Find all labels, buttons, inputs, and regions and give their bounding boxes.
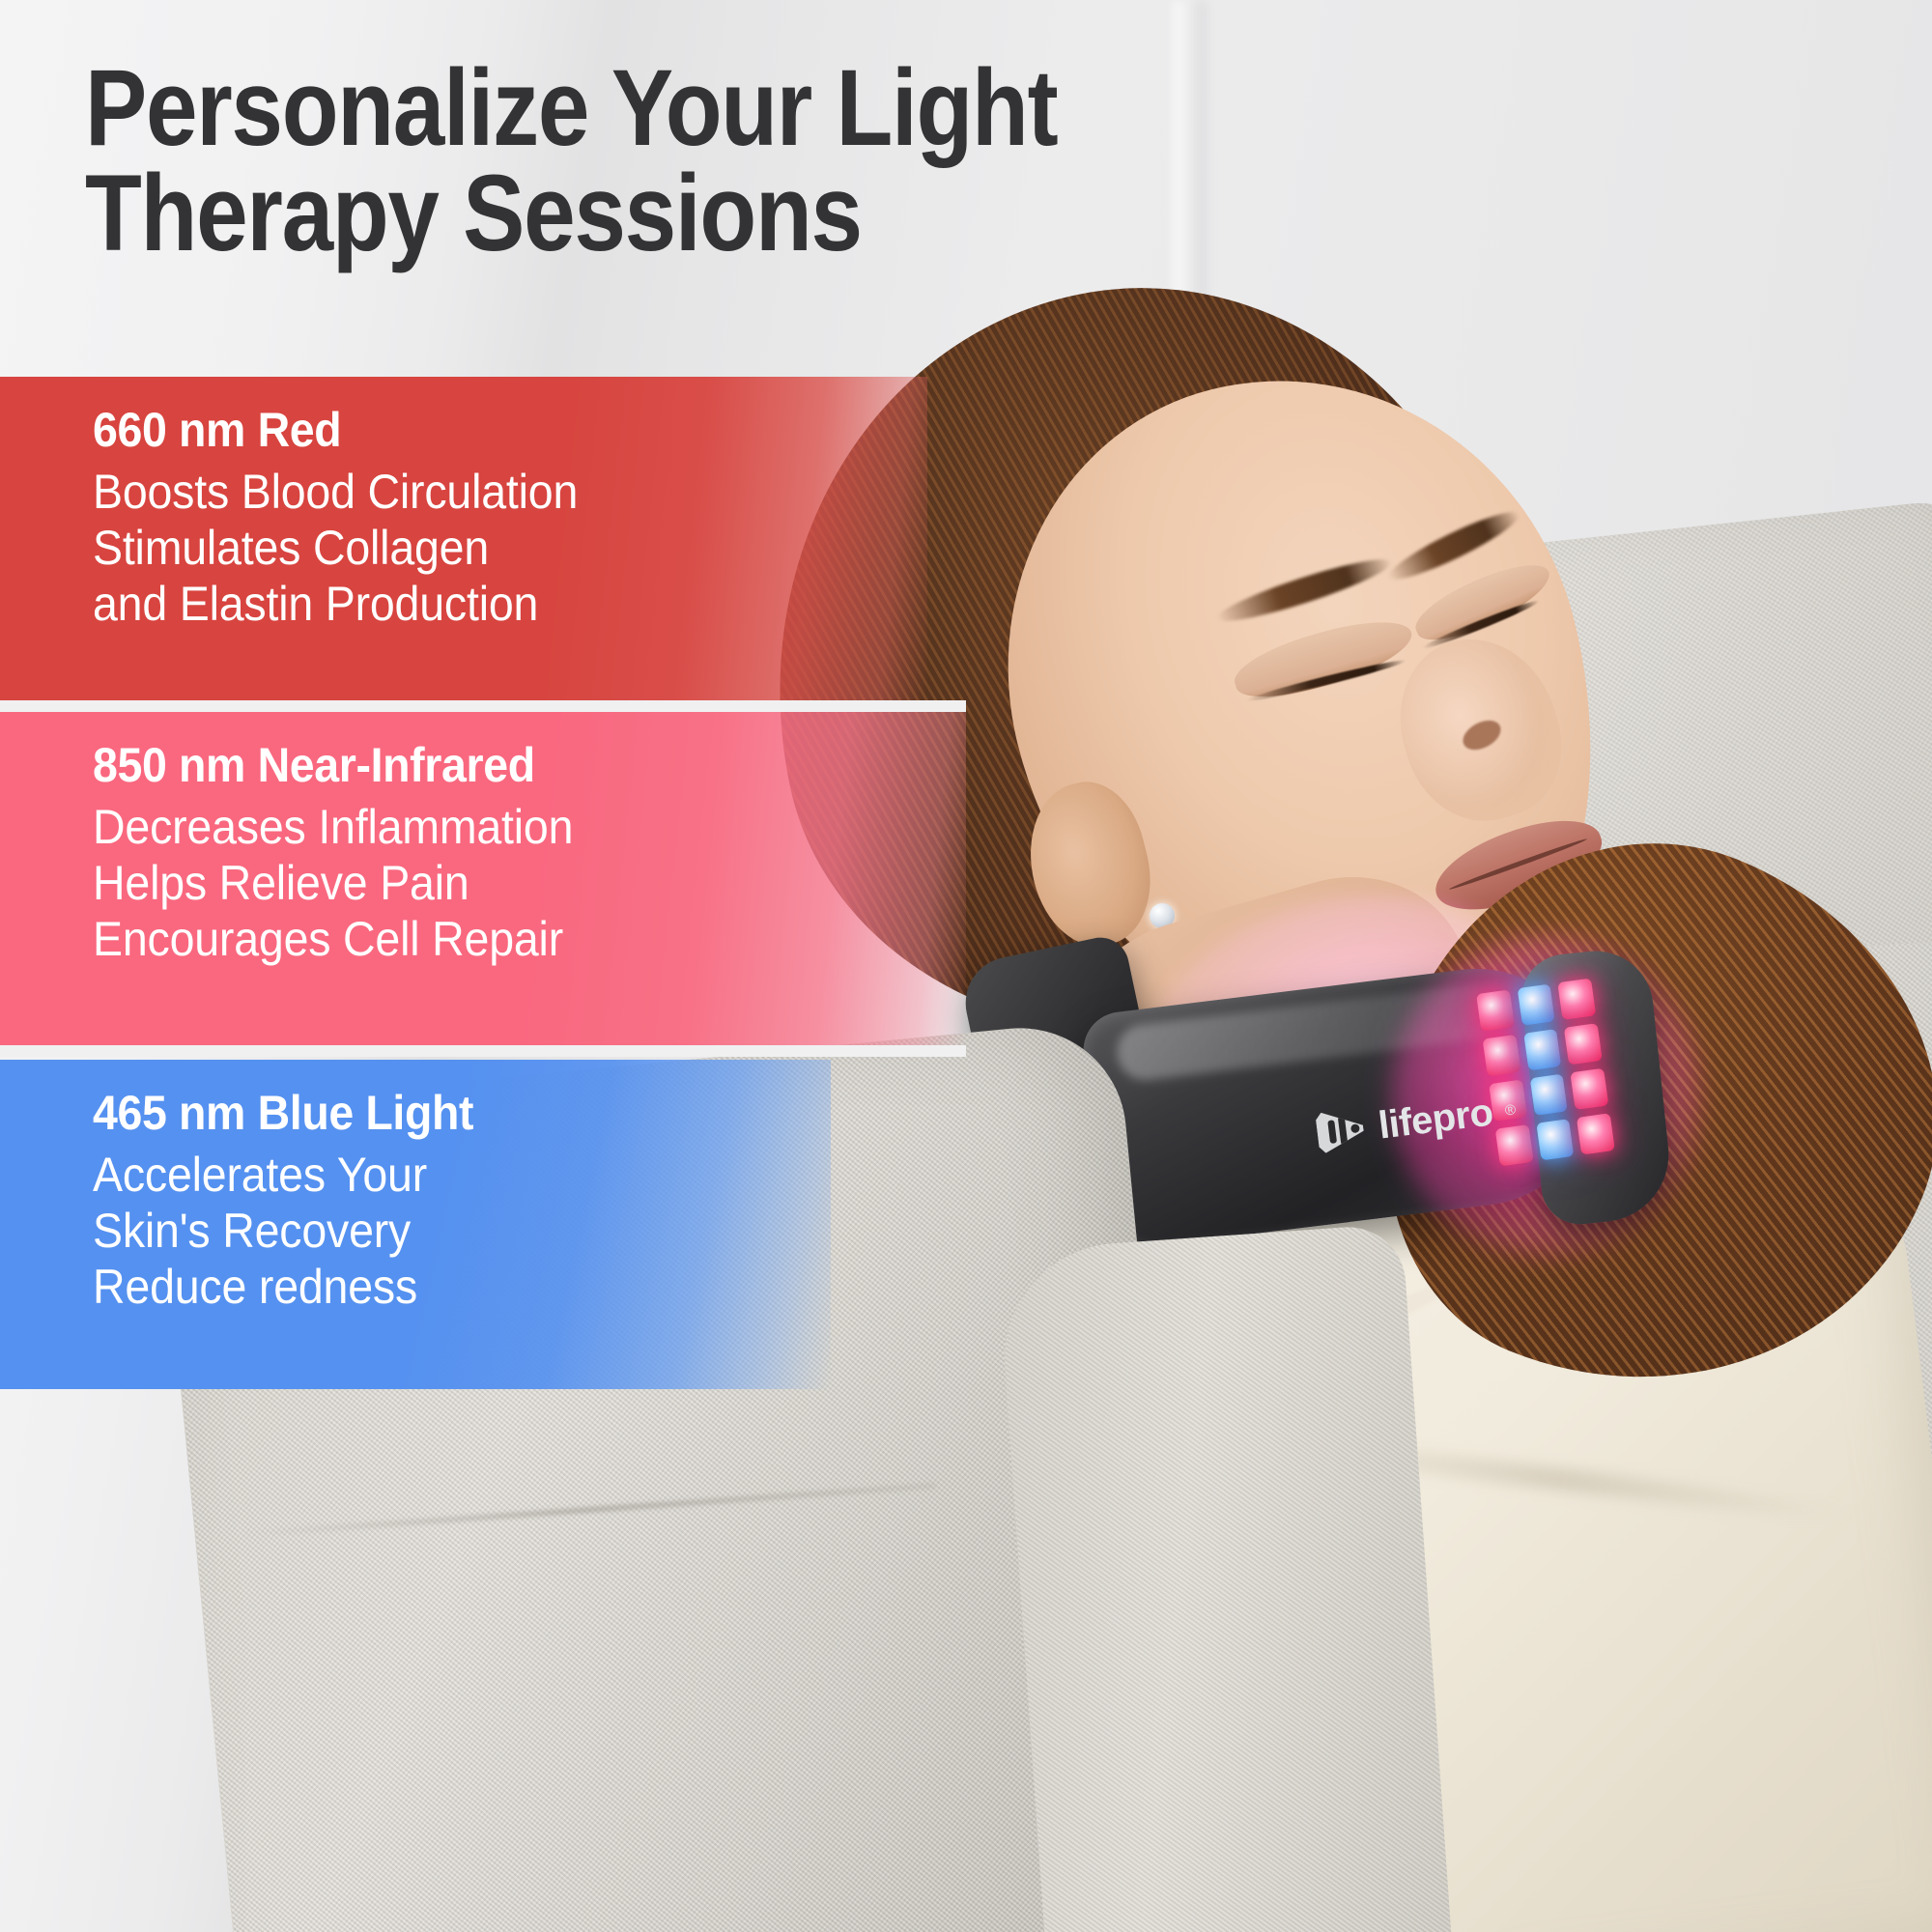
headline-line-2: Therapy Sessions [85,161,1065,267]
banner-benefit-red-1: Boosts Blood Circulation [93,464,869,520]
led-blue-2 [1523,1029,1562,1070]
banner-benefit-red-3: and Elastin Production [93,576,869,632]
led-red-3 [1483,1035,1521,1076]
feature-banner-850nm-near-infrared: 850 nm Near-Infrared Decreases Inflammat… [0,712,966,1045]
page-title: Personalize Your Light Therapy Sessions [85,56,1065,266]
trademark-symbol: ® [1504,1101,1517,1119]
led-blue-1 [1517,983,1555,1025]
led-red-1 [1476,989,1515,1031]
product-infographic: lifepro ® Personalize Your Light Therapy… [0,0,1932,1932]
feature-banner-660nm-red: 660 nm Red Boosts Blood Circulation Stim… [0,377,927,700]
led-red-2 [1558,979,1597,1020]
banner-benefit-pink-3: Encourages Cell Repair [93,911,905,967]
lifepro-play-mark-icon [1314,1104,1370,1158]
banner-benefit-red-2: Stimulates Collagen [93,520,869,576]
banner-title-blue: 465 nm Blue Light [93,1085,780,1141]
led-blue-4 [1536,1119,1575,1160]
banner-benefit-blue-2: Skin's Recovery [93,1203,780,1259]
banner-benefit-blue-3: Reduce redness [93,1259,780,1315]
banner-divider-2 [0,1045,966,1057]
banner-divider-1 [0,700,966,712]
banner-benefit-pink-2: Helps Relieve Pain [93,855,905,911]
led-red-8 [1577,1113,1615,1154]
led-red-4 [1564,1023,1603,1065]
banner-benefit-blue-1: Accelerates Your [93,1147,780,1203]
banner-benefit-pink-1: Decreases Inflammation [93,799,905,855]
banner-title-red: 660 nm Red [93,402,869,458]
led-red-6 [1571,1068,1609,1110]
feature-banner-465nm-blue-light: 465 nm Blue Light Accelerates Your Skin'… [0,1060,831,1389]
banner-title-pink: 850 nm Near-Infrared [93,737,905,793]
led-blue-3 [1529,1074,1568,1116]
headline-line-1: Personalize Your Light [85,56,1065,161]
led-light-panel [1465,967,1626,1178]
sofa-seat-cushion [997,1223,1457,1932]
